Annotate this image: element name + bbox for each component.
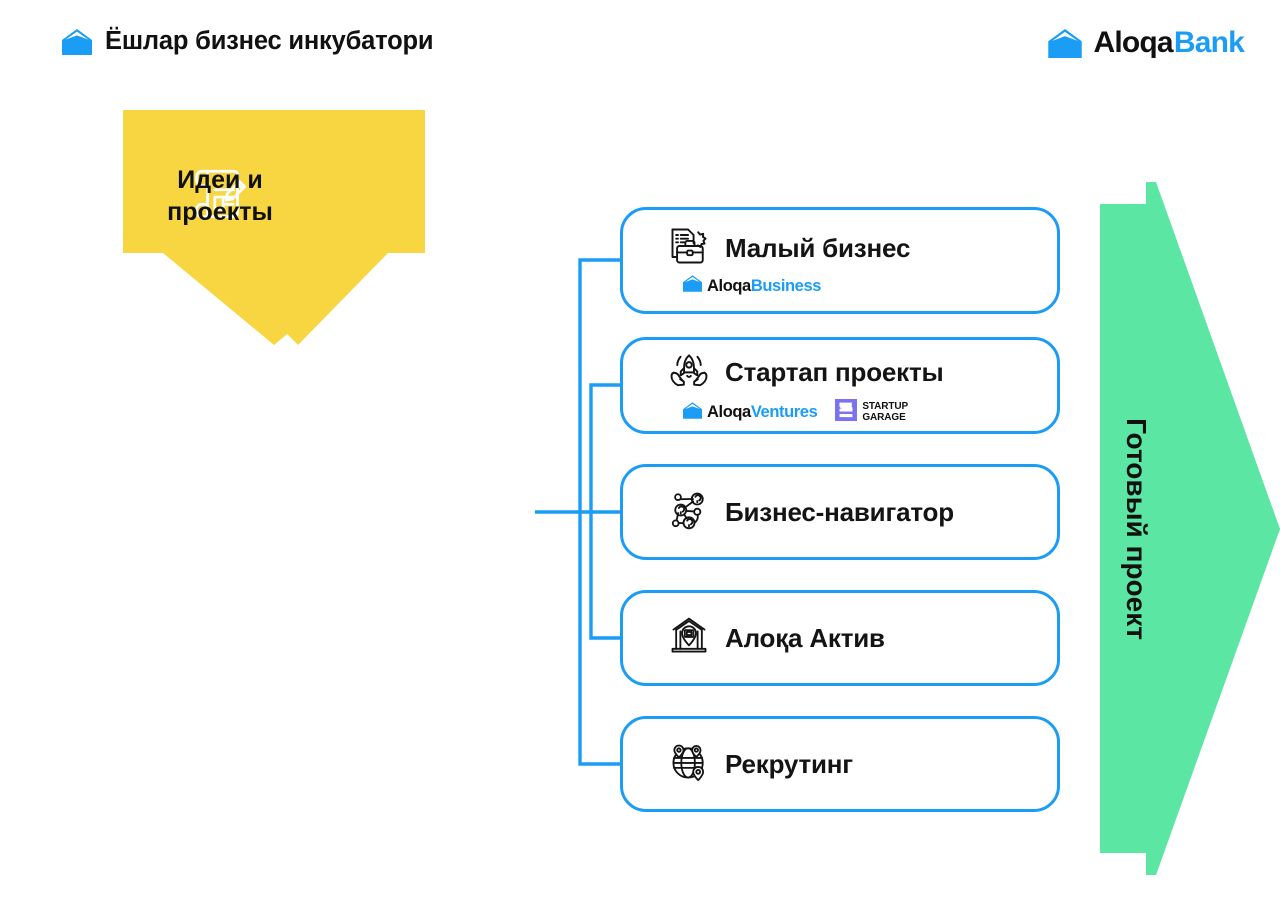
startup-garage-s-icon	[835, 399, 857, 426]
globe-location-pins-icon	[667, 740, 711, 789]
card-title: Рекрутинг	[725, 749, 853, 780]
aloqabank-roof-icon	[62, 29, 92, 55]
page-title-group: Ёшлар бизнес инкубатори	[62, 27, 433, 56]
brand-logo: Aloqa Bank	[1048, 26, 1244, 60]
card-header: Стартап проекты	[623, 340, 1057, 397]
card-logo-list: Aloqa Ventures STARTUP GARAGE	[623, 399, 1057, 426]
aloqa-business-logo: Aloqa Business	[683, 275, 821, 297]
header-bar: Ёшлар бизнес инкубатори Aloqa Bank	[0, 0, 1280, 90]
rocket-hands-icon	[667, 348, 711, 397]
ideas-arrow-label-line1: Идеи и	[150, 165, 290, 197]
card-title: Стартап проекты	[725, 357, 944, 388]
aloqabank-roof-icon	[1048, 29, 1082, 58]
card-aloqa-aktiv[interactable]: Алоқа Актив	[620, 590, 1060, 686]
card-title: Алоқа Актив	[725, 623, 885, 654]
page-title: Ёшлар бизнес инкубатори	[105, 27, 433, 56]
card-header: Малый бизнес	[623, 210, 1057, 273]
startup-garage-wordmark: STARTUP GARAGE	[862, 402, 908, 422]
card-header: Алоқа Актив	[623, 593, 1057, 663]
brand-name-primary: Aloqa	[1093, 26, 1172, 60]
logo-word-secondary: Ventures	[751, 403, 818, 422]
startup-garage-line1: STARTUP	[862, 402, 908, 412]
card-logo-list: Aloqa Business	[623, 275, 1057, 297]
aloqabank-roof-icon	[683, 275, 702, 297]
card-title: Бизнес-навигатор	[725, 497, 954, 528]
card-startup[interactable]: Стартап проекты Aloqa Ventures	[620, 337, 1060, 434]
briefcase-document-gear-icon	[667, 224, 711, 273]
aloqa-ventures-logo: Aloqa Ventures	[683, 402, 817, 424]
card-recruiting[interactable]: Рекрутинг	[620, 716, 1060, 812]
logo-word-primary: Aloqa	[707, 277, 751, 296]
card-header: Рекрутинг	[623, 719, 1057, 789]
bank-building-pin-icon	[667, 614, 711, 663]
logo-word-primary: Aloqa	[707, 403, 751, 422]
network-nodes-icon	[667, 488, 711, 537]
card-title: Малый бизнес	[725, 233, 910, 264]
ideas-arrow-label: Идеи и проекты	[150, 165, 290, 228]
card-header: Бизнес-навигатор	[623, 467, 1057, 537]
result-arrow-label: Готовый проект	[1086, 182, 1186, 875]
logo-word-secondary: Business	[751, 277, 821, 296]
startup-garage-line2: GARAGE	[862, 413, 908, 423]
brand-name-secondary: Bank	[1174, 26, 1244, 60]
card-small-business[interactable]: Малый бизнес Aloqa Business	[620, 207, 1060, 314]
ideas-arrow-label-line2: проекты	[150, 197, 290, 229]
aloqabank-roof-icon	[683, 402, 702, 424]
card-navigator[interactable]: Бизнес-навигатор	[620, 464, 1060, 560]
startup-garage-logo: STARTUP GARAGE	[835, 399, 908, 426]
